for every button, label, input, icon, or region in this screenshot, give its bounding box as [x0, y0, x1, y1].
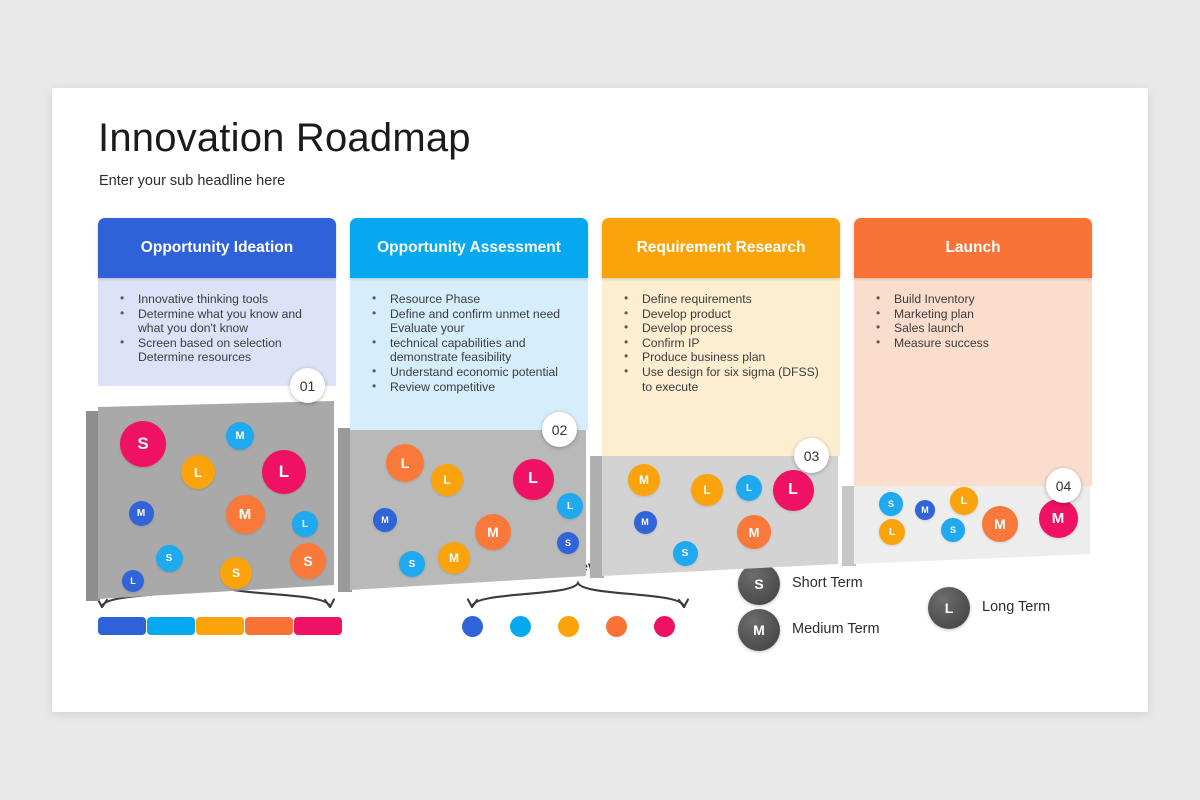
list-item: Resource Phase: [360, 292, 578, 307]
list-item: Define requirements: [612, 292, 830, 307]
list-item: Measure success: [864, 336, 1082, 351]
term-label-l: Long Term: [982, 599, 1050, 615]
column-body-opportunity-ideation: Innovative thinking toolsDetermine what …: [98, 278, 336, 386]
bubble-l[interactable]: L: [513, 459, 554, 500]
list-item: Produce business plan: [612, 350, 830, 365]
bubble-m[interactable]: M: [915, 500, 935, 520]
list-item: Confirm IP: [612, 336, 830, 351]
potential-revenue-dot-4[interactable]: [606, 616, 627, 637]
step-number-badge: 01: [290, 368, 325, 403]
page-subtitle: Enter your sub headline here: [99, 173, 285, 189]
step-number-badge: 03: [794, 438, 829, 473]
strategy-scope-swatch-2[interactable]: [147, 617, 195, 635]
strategy-scope-swatch-3[interactable]: [196, 617, 244, 635]
list-item: Use design for six sigma (DFSS) to execu…: [612, 365, 830, 394]
column-body-requirement-research: Define requirementsDevelop productDevelo…: [602, 278, 840, 456]
list-item: Review competitive: [360, 380, 578, 395]
column-bullet-list: Build InventoryMarketing planSales launc…: [864, 292, 1082, 350]
list-item: Marketing plan: [864, 307, 1082, 322]
roadmap-column-requirement-research[interactable]: Requirement ResearchDefine requirementsD…: [602, 218, 840, 456]
bubble-s[interactable]: S: [290, 543, 326, 579]
bubble-l[interactable]: L: [879, 519, 905, 545]
potential-revenue-dot-3[interactable]: [558, 616, 579, 637]
strategy-scope-swatch-1[interactable]: [98, 617, 146, 635]
bubble-l[interactable]: L: [122, 570, 144, 592]
strategy-scope-swatch-4[interactable]: [245, 617, 293, 635]
bubble-s[interactable]: S: [557, 532, 579, 554]
column-bullet-list: Define requirementsDevelop productDevelo…: [612, 292, 830, 394]
bubble-l[interactable]: L: [181, 455, 215, 489]
column-header-opportunity-ideation: Opportunity Ideation: [98, 218, 336, 278]
bubble-l[interactable]: L: [262, 450, 306, 494]
bubble-m[interactable]: M: [226, 422, 254, 450]
column-title: Opportunity Assessment: [377, 239, 561, 257]
bubble-s[interactable]: S: [156, 545, 183, 572]
bubble-l[interactable]: L: [431, 464, 463, 496]
bubble-s[interactable]: S: [673, 541, 698, 566]
bubble-m[interactable]: M: [634, 511, 657, 534]
bubble-l[interactable]: L: [557, 493, 583, 519]
list-item: Screen based on selection Determine reso…: [108, 336, 326, 365]
list-item: Determine what you know and what you don…: [108, 307, 326, 336]
roadmap-column-launch[interactable]: LaunchBuild InventoryMarketing planSales…: [854, 218, 1092, 486]
bubble-l[interactable]: L: [773, 470, 814, 511]
bubble-m[interactable]: M: [628, 464, 660, 496]
column-title: Opportunity Ideation: [141, 239, 293, 257]
bubble-s[interactable]: S: [220, 557, 252, 589]
list-item: Define and confirm unmet need Evaluate y…: [360, 307, 578, 336]
list-item: Understand economic potential: [360, 365, 578, 380]
column-body-opportunity-assessment: Resource PhaseDefine and confirm unmet n…: [350, 278, 588, 430]
list-item: Develop product: [612, 307, 830, 322]
term-label-m: Medium Term: [792, 621, 880, 637]
bubble-panel-1: SMLLMMLSSSL: [98, 401, 334, 599]
bubble-s[interactable]: S: [399, 551, 425, 577]
roadmap-column-opportunity-assessment[interactable]: Opportunity AssessmentResource PhaseDefi…: [350, 218, 588, 430]
bubble-m[interactable]: M: [475, 514, 511, 550]
strategy-scope-swatch-5[interactable]: [294, 617, 342, 635]
term-label-s: Short Term: [792, 575, 863, 591]
list-item: Develop process: [612, 321, 830, 336]
bubble-m[interactable]: M: [226, 495, 265, 534]
bubble-m[interactable]: M: [982, 506, 1018, 542]
list-item: technical capabilities and demonstrate f…: [360, 336, 578, 365]
bubble-m[interactable]: M: [737, 515, 771, 549]
potential-revenue-dot-5[interactable]: [654, 616, 675, 637]
potential-revenue-dot-1[interactable]: [462, 616, 483, 637]
list-item: Innovative thinking tools: [108, 292, 326, 307]
bubble-m[interactable]: M: [1039, 499, 1078, 538]
column-header-launch: Launch: [854, 218, 1092, 278]
bubble-l[interactable]: L: [736, 475, 762, 501]
column-title: Requirement Research: [637, 239, 806, 257]
bubble-l[interactable]: L: [950, 487, 978, 515]
column-header-requirement-research: Requirement Research: [602, 218, 840, 278]
bubble-l[interactable]: L: [691, 474, 723, 506]
list-item: Build Inventory: [864, 292, 1082, 307]
bubble-m[interactable]: M: [438, 542, 470, 574]
list-item: Sales launch: [864, 321, 1082, 336]
slide-canvas: Innovation Roadmap Enter your sub headli…: [52, 88, 1148, 712]
potential-revenue-dot-2[interactable]: [510, 616, 531, 637]
column-bullet-list: Innovative thinking toolsDetermine what …: [108, 292, 326, 365]
bubble-s[interactable]: S: [941, 518, 965, 542]
bubble-m[interactable]: M: [373, 508, 397, 532]
page-title: Innovation Roadmap: [98, 116, 471, 161]
bubble-l[interactable]: L: [292, 511, 318, 537]
term-circle-l: L: [928, 587, 970, 629]
step-number-badge: 02: [542, 412, 577, 447]
term-circle-m: M: [738, 609, 780, 651]
bubble-s[interactable]: S: [120, 421, 166, 467]
roadmap-column-opportunity-ideation[interactable]: Opportunity IdeationInnovative thinking …: [98, 218, 336, 386]
bubble-l[interactable]: L: [386, 444, 424, 482]
column-title: Launch: [945, 239, 1000, 257]
bubble-m[interactable]: M: [129, 501, 154, 526]
step-number-badge: 04: [1046, 468, 1081, 503]
bubble-s[interactable]: S: [879, 492, 903, 516]
column-body-launch: Build InventoryMarketing planSales launc…: [854, 278, 1092, 486]
column-bullet-list: Resource PhaseDefine and confirm unmet n…: [360, 292, 578, 394]
column-header-opportunity-assessment: Opportunity Assessment: [350, 218, 588, 278]
